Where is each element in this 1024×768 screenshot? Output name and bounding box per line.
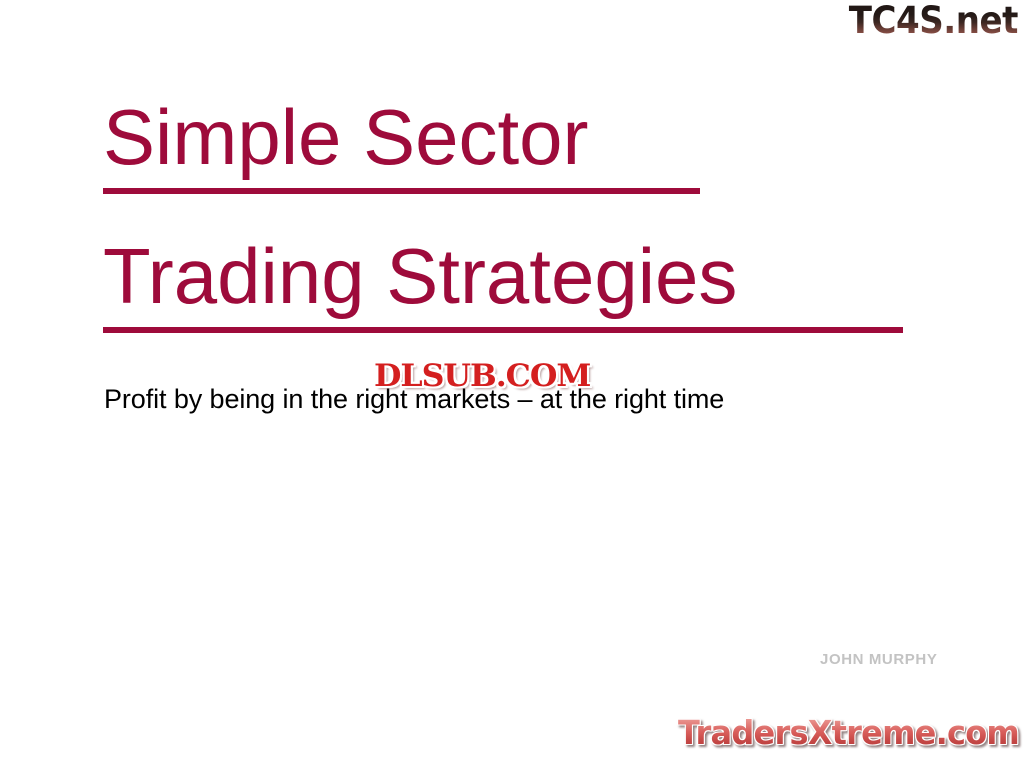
title-underline-rule-2 — [103, 327, 903, 333]
title-underline-rule-1 — [103, 188, 700, 194]
presentation-slide: TC4S.net Simple Sector Trading Strategie… — [0, 0, 1024, 768]
slide-title-block: Simple Sector Trading Strategies — [103, 96, 933, 317]
dlsub-watermark: DLSUB.COM — [374, 361, 590, 392]
page-title-line-1: Simple Sector — [103, 96, 933, 179]
page-title-line-2-text: Trading Strategies — [103, 235, 737, 318]
author-byline: JOHN MURPHY — [820, 651, 937, 668]
page-title-line-1-text: Simple Sector — [103, 96, 589, 179]
tradersxtreme-banner[interactable]: TradersXtreme.com — [678, 716, 1019, 749]
page-title-line-2: Trading Strategies — [103, 235, 933, 318]
tc4s-site-logo[interactable]: TC4S.net — [849, 2, 1018, 39]
